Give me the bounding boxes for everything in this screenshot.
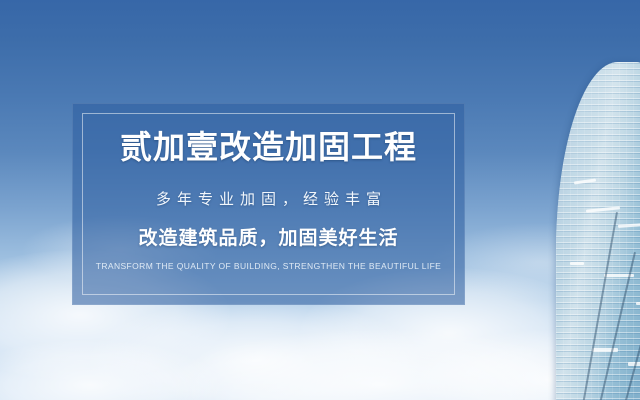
headline: 贰加壹改造加固工程 <box>120 129 417 166</box>
skyscraper-image <box>520 0 640 400</box>
panel-content: 贰加壹改造加固工程 多年专业加固，经验丰富 改造建筑品质，加固美好生活 TRAN… <box>72 103 465 305</box>
skyscraper-body <box>556 62 640 400</box>
hero-banner: 贰加壹改造加固工程 多年专业加固，经验丰富 改造建筑品质，加固美好生活 TRAN… <box>0 0 640 400</box>
skyscraper-window-highlight <box>592 348 618 352</box>
skyscraper-window-highlight <box>570 262 584 265</box>
slogan: 改造建筑品质，加固美好生活 <box>138 223 398 250</box>
text-panel: 贰加壹改造加固工程 多年专业加固，经验丰富 改造建筑品质，加固美好生活 TRAN… <box>72 103 465 305</box>
english-tagline: TRANSFORM THE QUALITY OF BUILDING, STREN… <box>96 261 442 271</box>
skyscraper-window-highlight <box>636 302 640 305</box>
subline: 多年专业加固，经验丰富 <box>150 188 387 209</box>
